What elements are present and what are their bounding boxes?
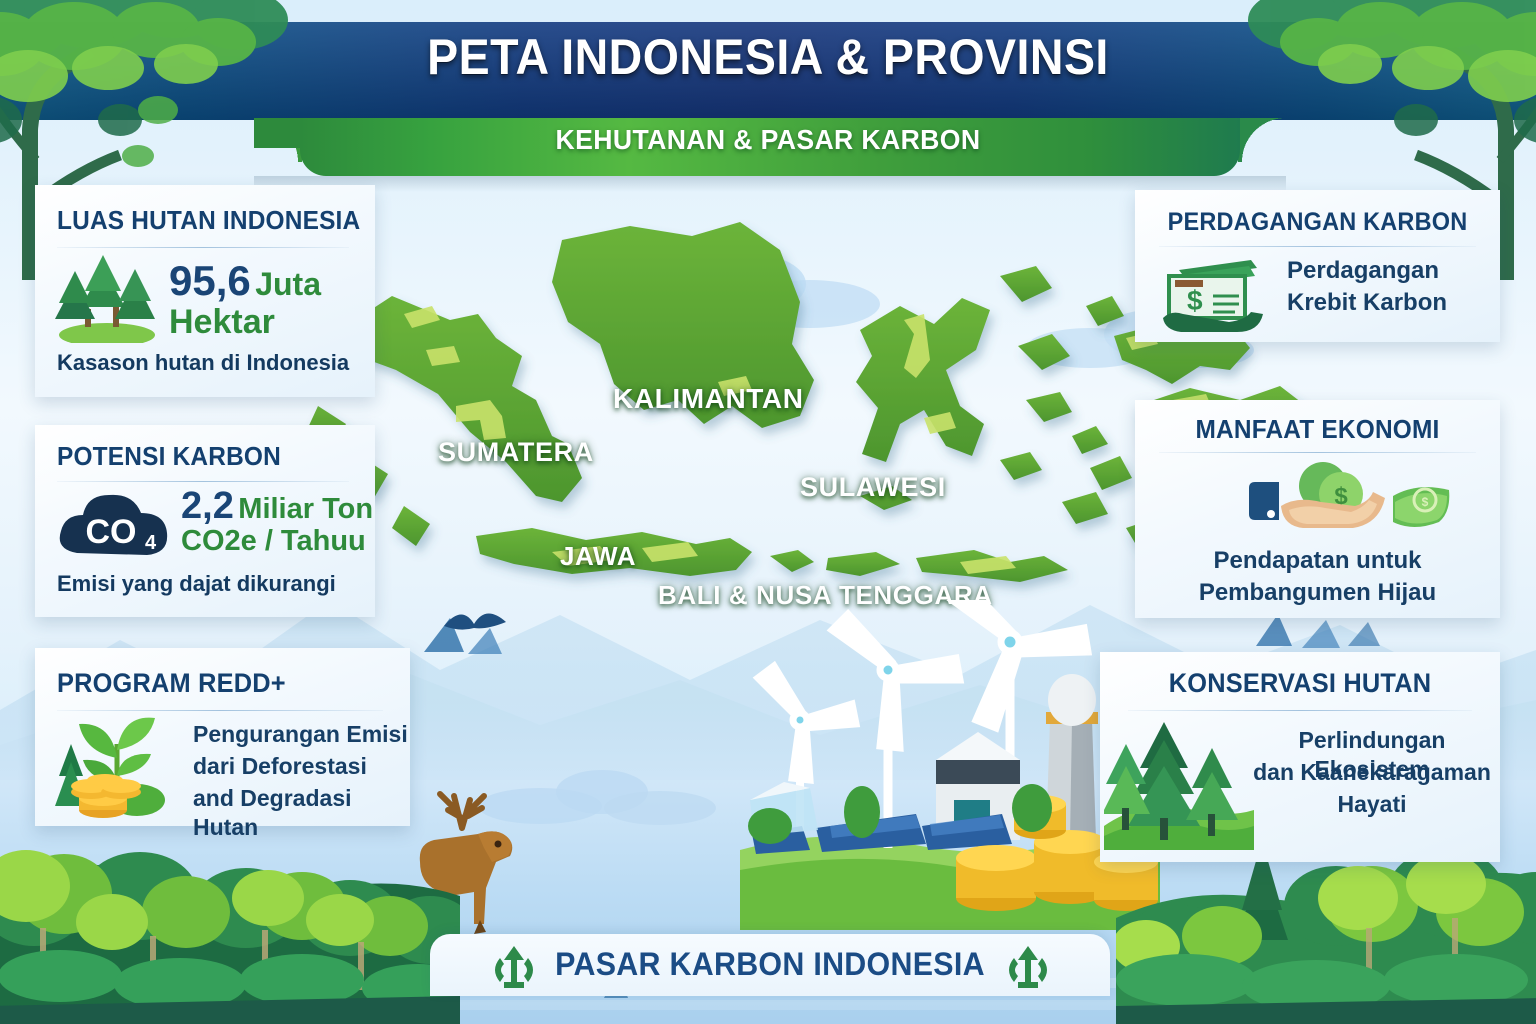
card-konservasi-hutan[interactable]: KONSERVASI HUTAN Perlindungan Ekosistem … xyxy=(1100,652,1500,862)
luas-hutan-unit-2: Hektar xyxy=(169,303,275,342)
luas-hutan-unit-1: Juta xyxy=(255,266,321,302)
renewable-energy-illustration xyxy=(740,600,1160,930)
program-redd-body-2: dari Deforestasi xyxy=(193,752,367,781)
svg-text:4: 4 xyxy=(145,532,157,554)
perdagangan-karbon-body-2: Krebit Karbon xyxy=(1287,288,1447,319)
divider xyxy=(1128,710,1472,711)
card-potensi-karbon[interactable]: POTENSI KARBON CO 4 2,2 Miliar Ton CO2e … xyxy=(35,425,375,617)
card-perdagangan-karbon[interactable]: PERDAGANGAN KARBON $ Perdagangan Krebit … xyxy=(1135,190,1500,342)
card-title-potensi-karbon: POTENSI KARBON xyxy=(57,441,281,472)
card-title-konservasi-hutan: KONSERVASI HUTAN xyxy=(1112,668,1488,699)
manfaat-ekonomi-body-1: Pendapatan untuk xyxy=(1135,546,1500,577)
header-shadow xyxy=(254,176,1286,192)
co2-cloud-icon: CO 4 xyxy=(53,487,175,565)
divider xyxy=(1159,246,1476,247)
hand-coin-cash-icon: $ $ xyxy=(1245,458,1455,538)
footer-banner-text: PASAR KARBON INDONESIA xyxy=(447,946,1093,983)
konservasi-hutan-body-3: Hayati xyxy=(1250,790,1494,819)
svg-text:$: $ xyxy=(1422,495,1429,509)
program-redd-body-1: Pengurangan Emisi xyxy=(193,720,408,749)
card-manfaat-ekonomi[interactable]: MANFAAT EKONOMI $ $ Pendapatan untuk Pem… xyxy=(1135,400,1500,618)
manfaat-ekonomi-body-2: Pembangumen Hijau xyxy=(1135,578,1500,609)
divider xyxy=(57,247,349,248)
forest-trees-icon xyxy=(51,255,163,343)
potensi-karbon-value: 2,2 xyxy=(181,485,234,527)
potensi-karbon-unit-2: CO2e / Tahuu xyxy=(181,525,366,558)
map-label-kalimantan: KALIMANTAN xyxy=(613,383,804,415)
divider xyxy=(57,710,383,711)
perdagangan-karbon-body-1: Perdagangan xyxy=(1287,256,1439,287)
svg-text:CO: CO xyxy=(86,513,137,551)
money-hand-icon: $ xyxy=(1157,252,1275,334)
konservasi-hutan-body-2: dan Kaanekaragaman xyxy=(1250,758,1494,787)
potensi-karbon-caption: Emisi yang dajat dikurangi xyxy=(57,571,336,597)
svg-text:$: $ xyxy=(1187,285,1203,316)
card-title-program-redd: PROGRAM REDD+ xyxy=(57,668,286,699)
footer-banner[interactable]: PASAR KARBON INDONESIA xyxy=(430,934,1110,996)
card-program-redd[interactable]: PROGRAM REDD+ Pengurangan Emisi dari Def… xyxy=(35,648,410,826)
card-luas-hutan[interactable]: LUAS HUTAN INDONESIA 95,6 Juta Hektar Ka… xyxy=(35,185,375,397)
pine-trees-icon xyxy=(1104,714,1254,850)
map-label-sumatera: SUMATERA xyxy=(438,437,594,468)
card-title-manfaat-ekonomi: MANFAAT EKONOMI xyxy=(1146,414,1489,445)
luas-hutan-caption: Kasason hutan di Indonesia xyxy=(57,350,349,376)
divider xyxy=(57,481,349,482)
luas-hutan-value: 95,6 xyxy=(169,257,251,304)
map-label-sulawesi: SULAWESI xyxy=(800,472,946,503)
seedling-coins-icon xyxy=(45,714,195,824)
bird-icon xyxy=(440,600,510,650)
infographic-canvas: PETA INDONESIA & PROVINSI KEHUTANAN & PA… xyxy=(0,0,1536,1024)
divider xyxy=(1159,452,1476,453)
program-redd-body-3: and Degradasi Hutan xyxy=(193,784,410,843)
potensi-karbon-unit-1: Miliar Ton xyxy=(238,493,373,525)
map-label-jawa: JAWA xyxy=(560,541,636,572)
card-title-luas-hutan: LUAS HUTAN INDONESIA xyxy=(57,205,360,236)
recycle-arrow-icon xyxy=(1002,942,1054,990)
card-title-perdagangan-karbon: PERDAGANGAN KARBON xyxy=(1146,208,1489,237)
